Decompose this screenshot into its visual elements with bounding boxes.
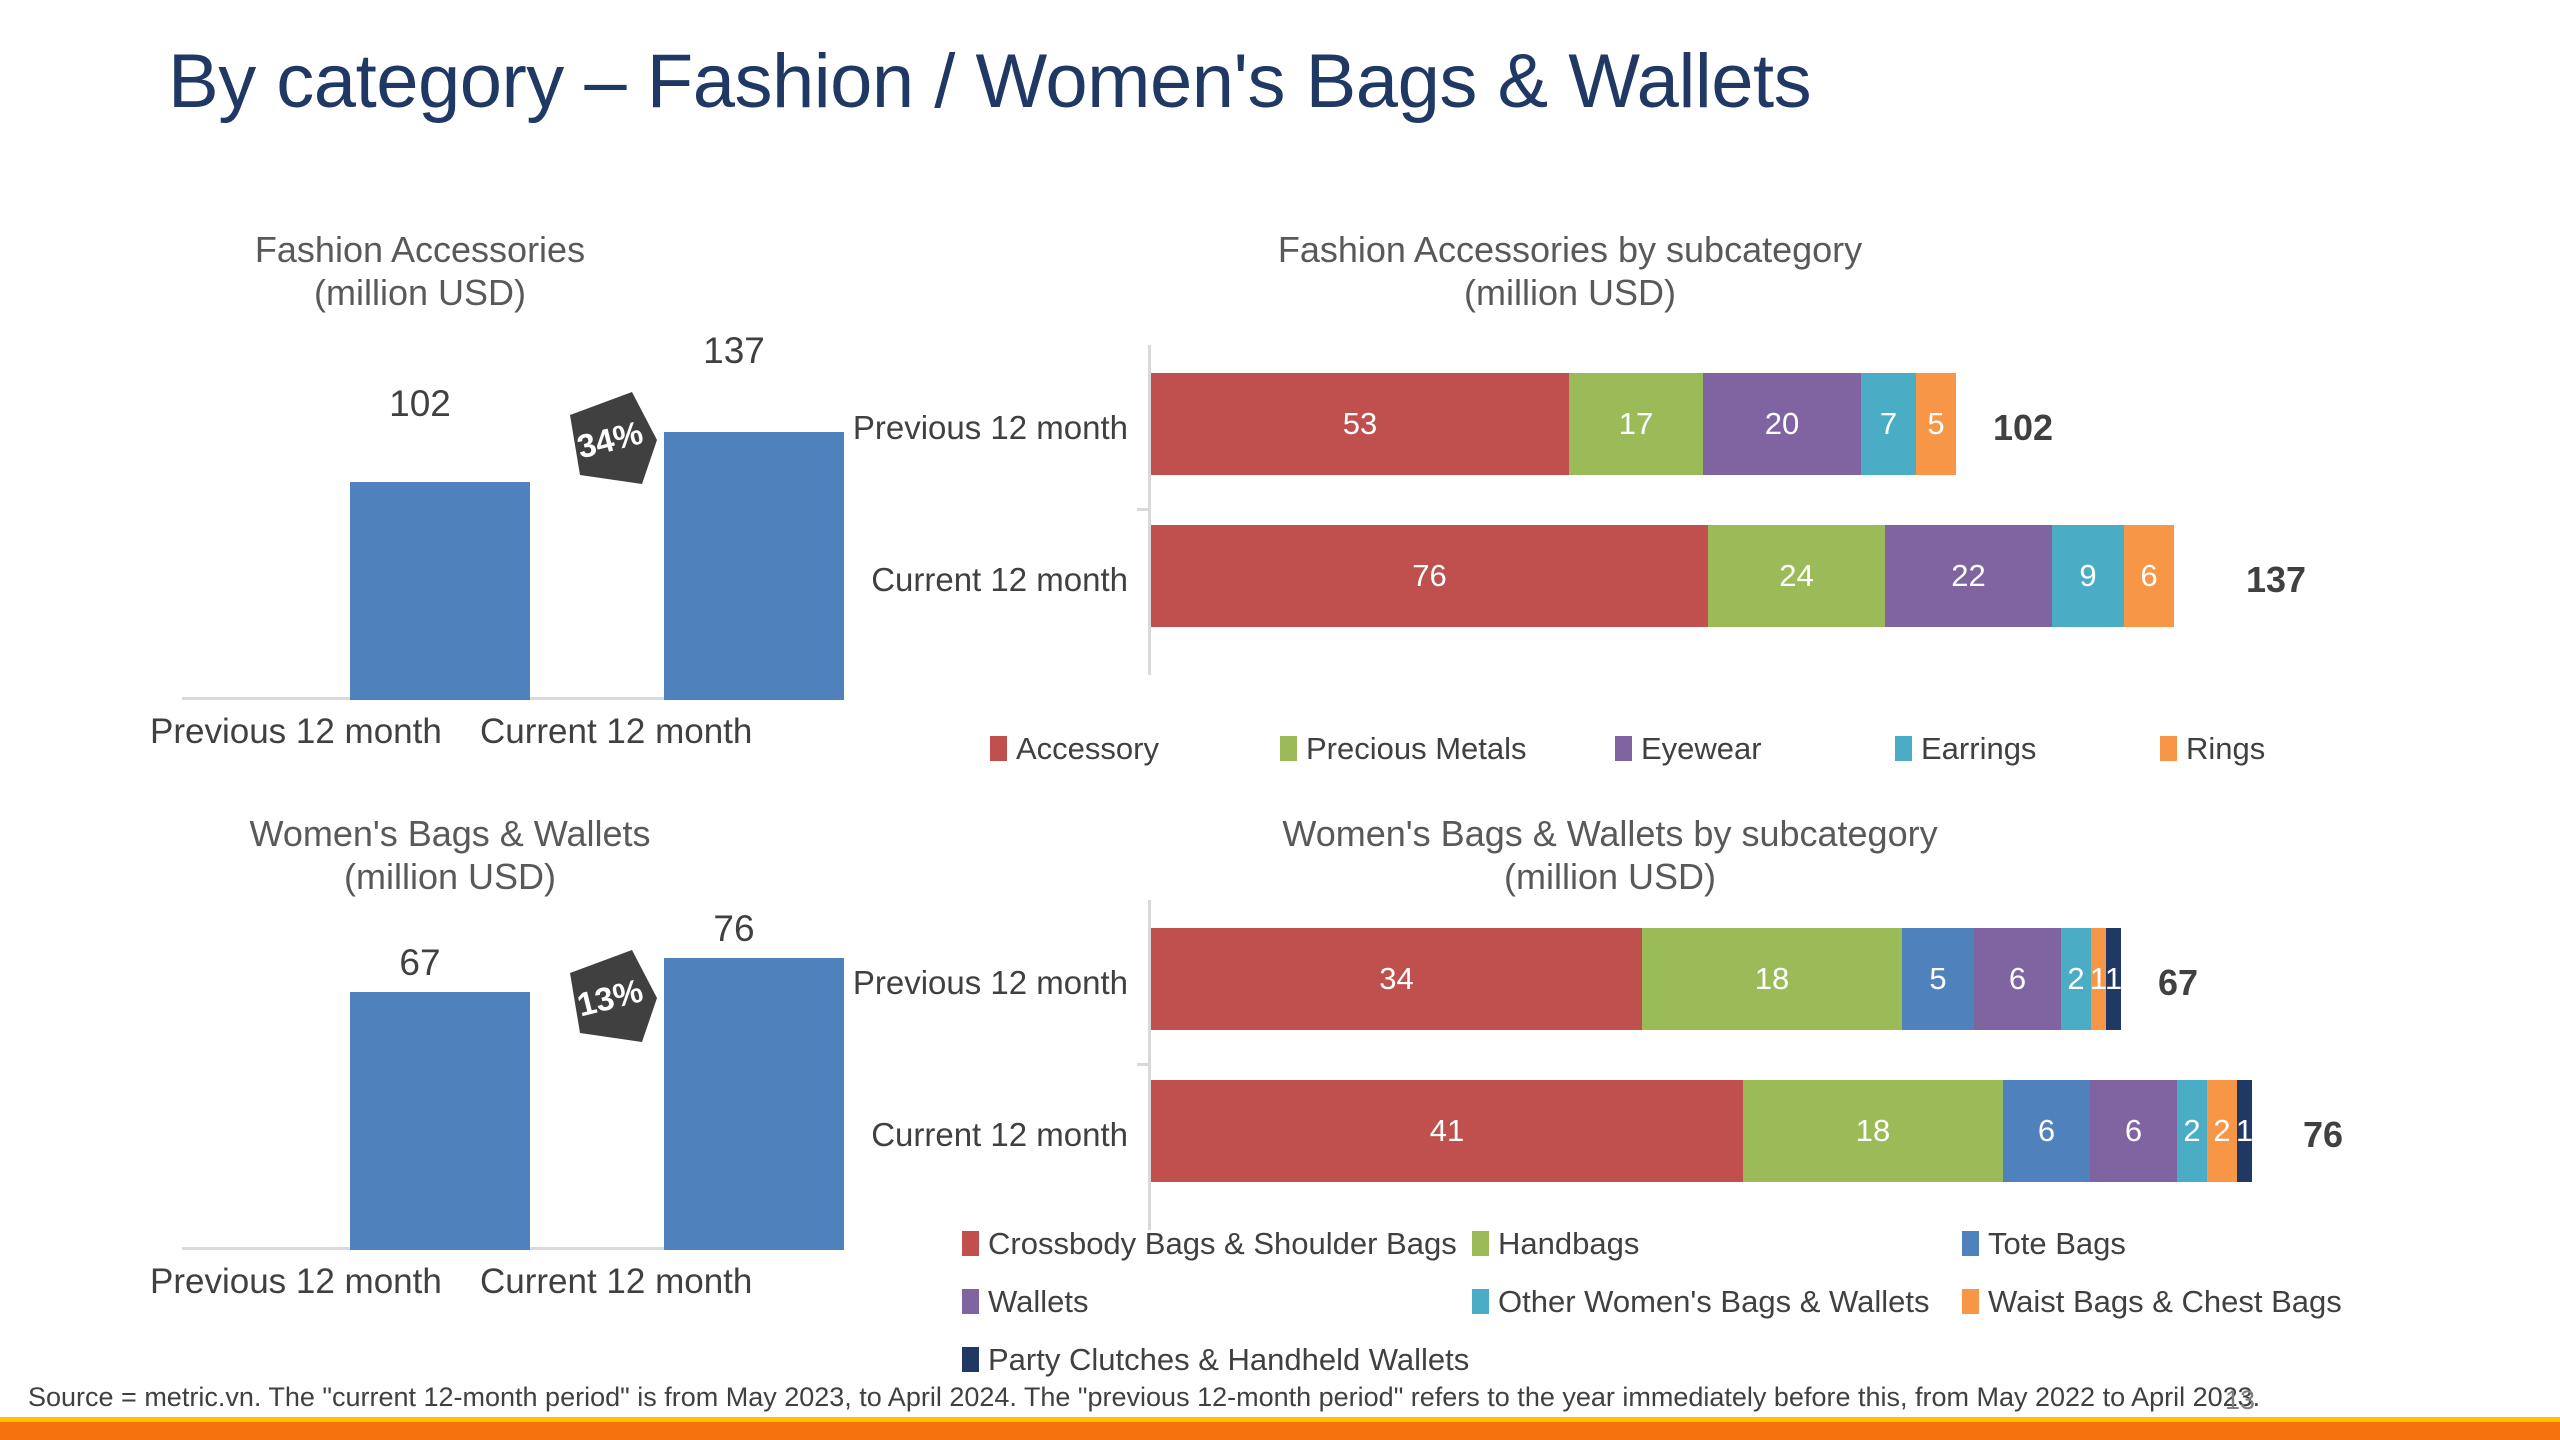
legend-label-party-clutches: Party Clutches & Handheld Wallets — [988, 1344, 1469, 1375]
chart-title-wb-line1: Women's Bags & Wallets — [170, 812, 730, 855]
legend-item-precious-metals[interactable]: Precious Metals — [1280, 733, 1615, 764]
row-total-previous-fa: 102 — [1993, 407, 2053, 449]
bar-value-current: 137 — [664, 330, 804, 372]
legend-label-precious-metals: Precious Metals — [1306, 733, 1527, 764]
bar-previous-12-month[interactable] — [350, 482, 530, 700]
row-total-current-fa: 137 — [2246, 559, 2306, 601]
segment-other-previous[interactable]: 2 — [2061, 928, 2091, 1030]
stacked-row-current-wb: 41 18 6 6 2 2 1 — [1151, 1080, 2252, 1182]
stacked-row-previous-wb: 34 18 5 6 2 1 1 — [1151, 928, 2121, 1030]
bar-current-12-month-wb[interactable] — [664, 958, 844, 1250]
bar-value-current-wb: 76 — [664, 908, 804, 950]
category-label-current-wb: Current 12 month — [480, 1262, 740, 1302]
chart-subtitle-wbs-line2: (million USD) — [1140, 855, 2080, 898]
legend-swatch-other-womens — [1472, 1289, 1489, 1314]
row-total-previous-wb: 67 — [2158, 962, 2198, 1004]
row-label-previous-wb-sub: Previous 12 month — [848, 964, 1128, 1002]
axis-tick-mid — [1137, 508, 1148, 511]
row-label-current-fa-sub: Current 12 month — [848, 561, 1128, 599]
legend-swatch-party-clutches — [962, 1347, 979, 1372]
chart-womens-bags-wallets-total: 67 76 13% — [160, 920, 840, 1250]
legend-swatch-handbags — [1472, 1231, 1489, 1256]
segment-party-clutches-previous[interactable]: 1 — [2106, 928, 2121, 1030]
legend-swatch-eyewear — [1615, 736, 1632, 761]
chart-subtitle-sub-line2: (million USD) — [1140, 271, 2000, 314]
chart-womens-bags-wallets-subcategory: Previous 12 month 34 18 5 6 2 1 1 67 Cur… — [1148, 900, 2448, 1230]
chart-title-fashion-accessories-sub: Fashion Accessories by subcategory (mill… — [1140, 228, 2000, 314]
legend-item-rings[interactable]: Rings — [2160, 733, 2340, 764]
row-total-current-wb: 76 — [2303, 1114, 2343, 1156]
segment-earrings-previous[interactable]: 7 — [1861, 373, 1916, 475]
legend-swatch-tote-bags — [1962, 1231, 1979, 1256]
legend-swatch-rings — [2160, 736, 2177, 761]
segment-handbags-current[interactable]: 18 — [1743, 1080, 2003, 1182]
segment-wallets-previous[interactable]: 6 — [1974, 928, 2061, 1030]
legend-swatch-earrings — [1895, 736, 1912, 761]
segment-party-clutches-current[interactable]: 1 — [2237, 1080, 2252, 1182]
segment-eyewear-previous[interactable]: 20 — [1703, 373, 1861, 475]
bar-value-previous-wb: 67 — [350, 942, 490, 984]
segment-earrings-current[interactable]: 9 — [2052, 525, 2124, 627]
legend-item-tote-bags[interactable]: Tote Bags — [1962, 1228, 2382, 1259]
legend-swatch-crossbody — [962, 1231, 979, 1256]
row-label-current-wb-sub: Current 12 month — [848, 1116, 1128, 1154]
axis-tick-mid-wb — [1137, 1063, 1148, 1066]
legend-label-tote-bags: Tote Bags — [1988, 1228, 2126, 1259]
legend-item-earrings[interactable]: Earrings — [1895, 733, 2160, 764]
segment-handbags-previous[interactable]: 18 — [1642, 928, 1902, 1030]
segment-precious-metals-previous[interactable]: 17 — [1569, 373, 1703, 475]
segment-other-current[interactable]: 2 — [2177, 1080, 2207, 1182]
segment-waist-bags-previous[interactable]: 1 — [2091, 928, 2106, 1030]
legend-item-other-womens[interactable]: Other Women's Bags & Wallets — [1472, 1286, 1962, 1317]
legend-item-handbags[interactable]: Handbags — [1472, 1228, 1962, 1259]
segment-wallets-current[interactable]: 6 — [2090, 1080, 2177, 1182]
segment-accessory-previous[interactable]: 53 — [1151, 373, 1569, 475]
legend-label-crossbody: Crossbody Bags & Shoulder Bags — [988, 1228, 1457, 1259]
legend-swatch-accessory — [990, 736, 1007, 761]
stacked-row-previous-fa: 53 17 20 7 5 — [1151, 373, 1956, 475]
category-label-previous-wb: Previous 12 month — [150, 1262, 410, 1302]
chart-fashion-accessories-total: 102 137 34% — [160, 340, 840, 700]
chart-title-womens-bags-sub: Women's Bags & Wallets by subcategory (m… — [1140, 812, 2080, 898]
legend-fashion-accessories: Accessory Precious Metals Eyewear Earrin… — [990, 733, 2340, 764]
legend-label-earrings: Earrings — [1921, 733, 2036, 764]
segment-crossbody-current[interactable]: 41 — [1151, 1080, 1743, 1182]
segment-tote-bags-previous[interactable]: 5 — [1902, 928, 1974, 1030]
chart-subtitle-line2: (million USD) — [170, 271, 670, 314]
chart-title-sub-line1: Fashion Accessories by subcategory — [1140, 228, 2000, 271]
source-footnote: Source = metric.vn. The "current 12-mont… — [28, 1382, 2260, 1413]
chart-title-fashion-accessories: Fashion Accessories (million USD) — [170, 228, 670, 314]
legend-label-accessory: Accessory — [1016, 733, 1159, 764]
category-label-previous-fa: Previous 12 month — [150, 712, 410, 752]
category-label-current-fa: Current 12 month — [480, 712, 740, 752]
chart-subtitle-wb-line2: (million USD) — [170, 855, 730, 898]
legend-label-eyewear: Eyewear — [1641, 733, 1762, 764]
accent-bar-orange — [0, 1422, 2560, 1440]
bar-previous-12-month-wb[interactable] — [350, 992, 530, 1250]
bar-current-12-month[interactable] — [664, 432, 844, 700]
segment-accessory-current[interactable]: 76 — [1151, 525, 1708, 627]
legend-swatch-precious-metals — [1280, 736, 1297, 761]
slide-canvas: By category – Fashion / Women's Bags & W… — [0, 0, 2560, 1440]
legend-item-waist-bags[interactable]: Waist Bags & Chest Bags — [1962, 1286, 2382, 1317]
chart-title-womens-bags: Women's Bags & Wallets (million USD) — [170, 812, 730, 898]
legend-label-other-womens: Other Women's Bags & Wallets — [1498, 1286, 1929, 1317]
legend-label-waist-bags: Waist Bags & Chest Bags — [1988, 1286, 2342, 1317]
legend-item-accessory[interactable]: Accessory — [990, 733, 1280, 764]
legend-swatch-waist-bags — [1962, 1289, 1979, 1314]
legend-item-eyewear[interactable]: Eyewear — [1615, 733, 1895, 764]
bar-value-previous: 102 — [350, 383, 490, 425]
row-label-previous-fa-sub: Previous 12 month — [848, 409, 1128, 447]
legend-swatch-wallets — [962, 1289, 979, 1314]
segment-precious-metals-current[interactable]: 24 — [1708, 525, 1885, 627]
legend-item-wallets[interactable]: Wallets — [962, 1286, 1472, 1317]
legend-womens-bags-wallets: Crossbody Bags & Shoulder Bags Handbags … — [962, 1228, 2382, 1375]
legend-item-party-clutches[interactable]: Party Clutches & Handheld Wallets — [962, 1344, 1662, 1375]
segment-crossbody-previous[interactable]: 34 — [1151, 928, 1642, 1030]
segment-waist-bags-current[interactable]: 2 — [2207, 1080, 2237, 1182]
page-number: 13 — [2210, 1385, 2270, 1416]
growth-badge-womens-bags: 13% — [558, 946, 662, 1050]
chart-fashion-accessories-subcategory: Previous 12 month 53 17 20 7 5 102 Curre… — [1148, 345, 2448, 675]
chart-title-line1: Fashion Accessories — [170, 228, 670, 271]
chart-title-wbs-line1: Women's Bags & Wallets by subcategory — [1140, 812, 2080, 855]
growth-badge-fashion-accessories: 34% — [558, 388, 662, 492]
page-title: By category – Fashion / Women's Bags & W… — [168, 38, 2448, 125]
legend-label-handbags: Handbags — [1498, 1228, 1639, 1259]
legend-label-wallets: Wallets — [988, 1286, 1088, 1317]
legend-label-rings: Rings — [2186, 733, 2265, 764]
legend-item-crossbody[interactable]: Crossbody Bags & Shoulder Bags — [962, 1228, 1472, 1259]
stacked-row-current-fa: 76 24 22 9 6 — [1151, 525, 2174, 627]
segment-rings-previous[interactable]: 5 — [1916, 373, 1956, 475]
segment-tote-bags-current[interactable]: 6 — [2003, 1080, 2090, 1182]
segment-rings-current[interactable]: 6 — [2124, 525, 2174, 627]
segment-eyewear-current[interactable]: 22 — [1885, 525, 2052, 627]
